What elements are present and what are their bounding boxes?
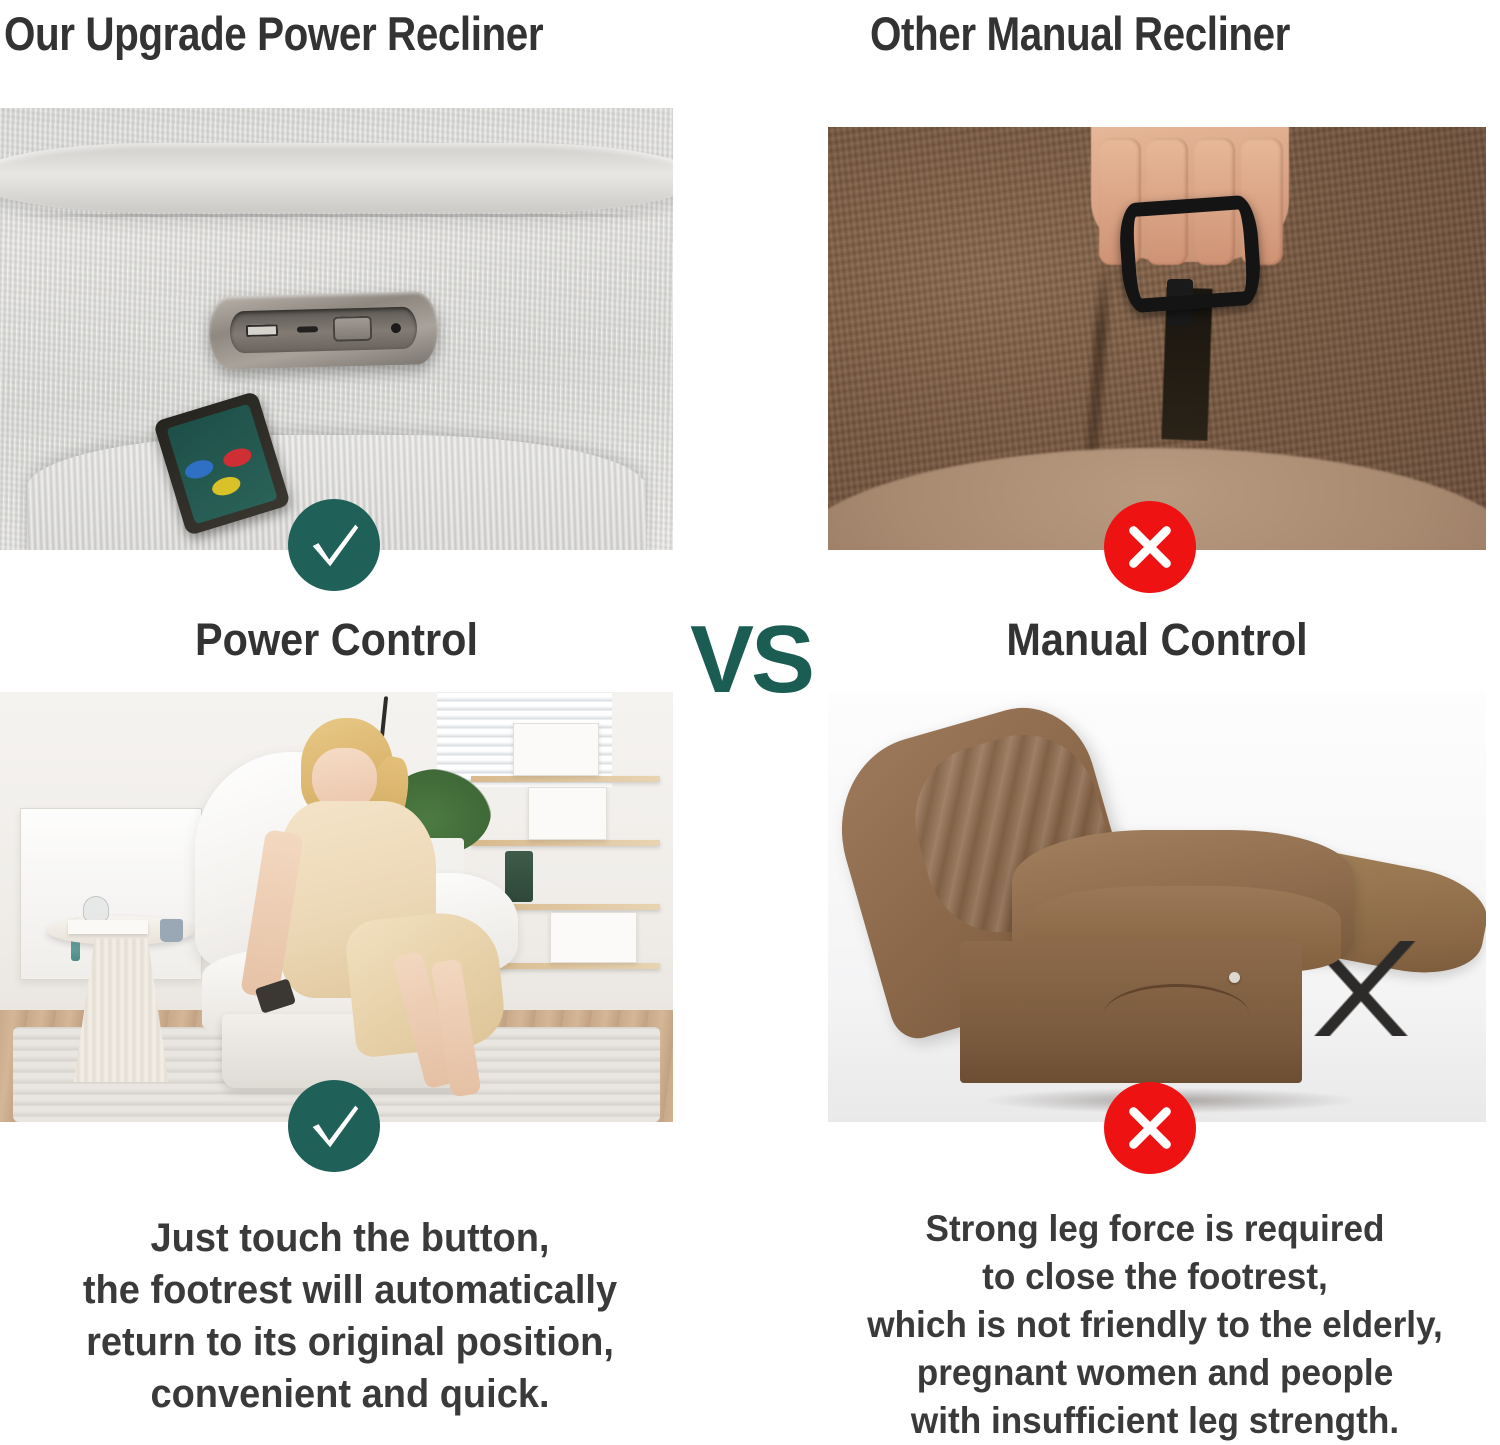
caption-line: Strong leg force is required	[827, 1205, 1483, 1253]
remote-power-button	[183, 457, 216, 482]
side-table	[47, 916, 195, 1079]
usb-c-port-icon	[297, 326, 318, 332]
vs-separator-label: VS	[690, 612, 812, 708]
image-manual-recliner-product	[828, 692, 1486, 1122]
comparison-infographic: Our Upgrade Power Recliner Other Manual …	[0, 0, 1500, 1434]
remote-faceplate	[166, 403, 278, 524]
status-badge-negative-top	[1104, 501, 1196, 593]
caption-line: convenient and quick.	[18, 1368, 683, 1420]
caption-right: Strong leg force is required to close th…	[810, 1205, 1500, 1445]
check-icon	[303, 514, 365, 576]
manual-release-handle	[1117, 194, 1263, 313]
seated-person	[242, 718, 511, 1096]
heading-right: Other Manual Recliner	[870, 6, 1290, 61]
image-power-control-panel	[0, 108, 673, 550]
status-badge-positive-bottom	[288, 1080, 380, 1172]
remote-heat-button	[221, 445, 254, 470]
check-icon	[303, 1095, 365, 1157]
upholstery-button	[1229, 972, 1240, 983]
cross-icon	[1119, 516, 1181, 578]
led-indicator-icon	[390, 323, 400, 333]
table-base	[74, 938, 169, 1082]
caption-line: with insufficient leg strength.	[827, 1397, 1483, 1445]
heading-left: Our Upgrade Power Recliner	[4, 6, 543, 61]
shelf-box	[513, 723, 600, 776]
feature-label-left: Power Control	[27, 614, 646, 666]
recliner-side-pocket	[1104, 984, 1249, 1044]
seam-stitch-line	[0, 214, 673, 217]
glass-cup	[83, 896, 110, 922]
caption-line: the footrest will automatically	[18, 1264, 683, 1316]
caption-line: which is not friendly to the elderly,	[827, 1301, 1483, 1349]
feature-label-right: Manual Control	[854, 614, 1459, 666]
cushion-seam	[0, 143, 673, 213]
shelf-box	[550, 912, 637, 963]
status-badge-negative-bottom	[1104, 1082, 1196, 1174]
image-power-recliner-lifestyle	[0, 692, 673, 1122]
power-control-module	[208, 291, 439, 370]
shelf-box	[528, 787, 607, 840]
caption-line: Just touch the button,	[18, 1212, 683, 1264]
remote-massage-button	[210, 474, 243, 499]
coffee-mug	[160, 919, 184, 942]
caption-line: return to its original position,	[18, 1316, 683, 1368]
status-badge-positive-top	[288, 499, 380, 591]
control-module-recess	[229, 306, 418, 353]
caption-line: to close the footrest,	[827, 1253, 1483, 1301]
stacked-books	[68, 920, 148, 933]
recline-rocker-button	[332, 315, 372, 341]
usb-a-port-icon	[246, 323, 278, 337]
caption-left: Just touch the button, the footrest will…	[0, 1212, 700, 1420]
image-manual-handle-panel	[828, 127, 1486, 550]
caption-line: pregnant women and people	[827, 1349, 1483, 1397]
cross-icon	[1119, 1097, 1181, 1159]
